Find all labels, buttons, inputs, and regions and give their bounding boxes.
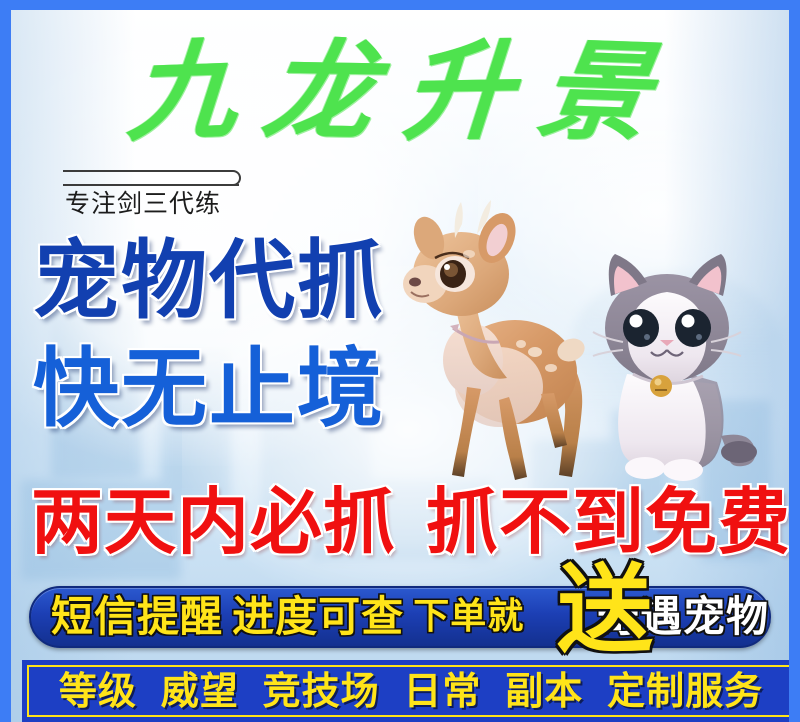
sub-slogan: 专注剑三代练 (63, 170, 278, 212)
fawn-illustration (395, 182, 625, 482)
service-custom[interactable]: 定制服务 (607, 672, 763, 710)
headline-line-2: 快无止境 (33, 346, 385, 432)
title-char-4: 景 (533, 36, 658, 148)
title-char-2: 龙 (258, 37, 383, 147)
title-char-3: 升 (400, 37, 516, 147)
shop-title: 九 龙 升 景 (129, 32, 649, 152)
service-level[interactable]: 等级 (59, 672, 137, 710)
feature-sms-reminder: 短信提醒 (51, 596, 223, 638)
feature-progress-query: 进度可查 (232, 596, 404, 638)
promo-poster: 九 龙 升 景 专注剑三代练 (0, 0, 800, 722)
headline-line-1: 宠物代抓 (33, 238, 385, 324)
promise-row: 两天内必抓 抓不到免费 (31, 486, 791, 558)
title-char-1: 九 (125, 36, 241, 148)
gift-character: 送 (557, 562, 653, 658)
service-daily[interactable]: 日常 (403, 672, 481, 710)
services-bar-inner: 等级 威望 竞技场 日常 副本 定制服务 (27, 665, 795, 717)
service-prestige[interactable]: 威望 (161, 672, 239, 710)
sub-slogan-text: 专注剑三代练 (65, 184, 221, 220)
feature-order-prefix: 下单就 (413, 599, 524, 635)
service-arena[interactable]: 竞技场 (263, 672, 380, 710)
service-dungeon[interactable]: 副本 (505, 672, 583, 710)
promise-left: 两天内必抓 (31, 486, 396, 558)
features-banner: 短信提醒 进度可查 下单就 奇遇宠物 (29, 586, 771, 648)
services-bar: 等级 威望 竞技场 日常 副本 定制服务 (22, 660, 800, 722)
promise-right: 抓不到免费 (426, 486, 791, 558)
deer-pet-image (395, 182, 625, 482)
